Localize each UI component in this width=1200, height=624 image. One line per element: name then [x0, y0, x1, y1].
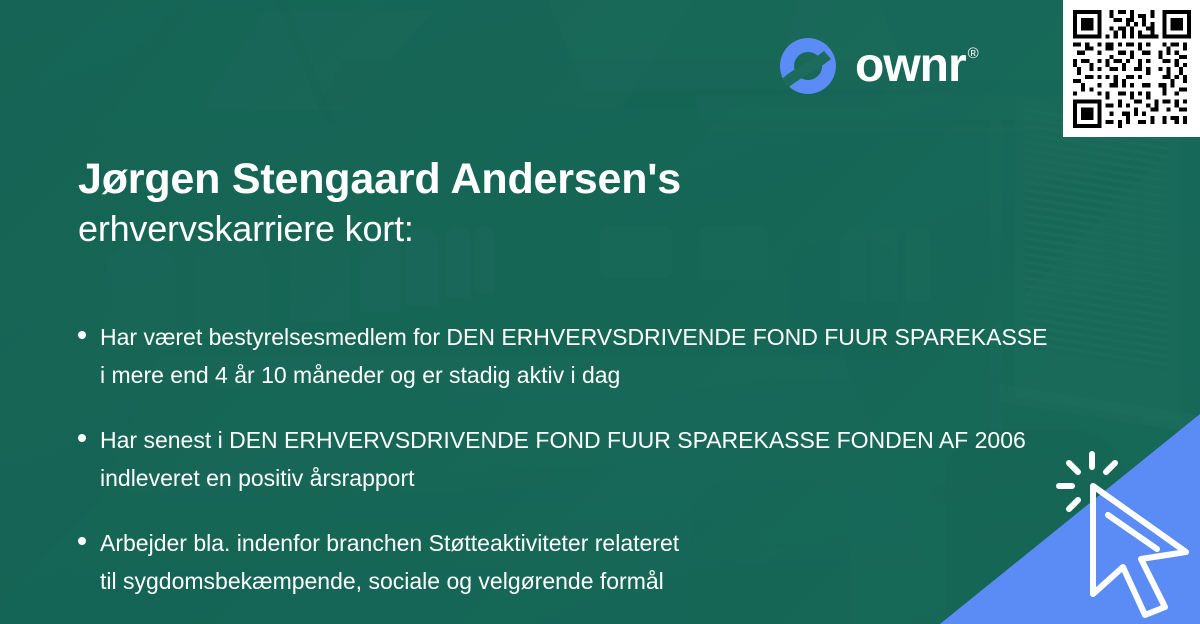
career-card: ownr ® — [0, 0, 1200, 624]
ownr-logo-mark-icon — [779, 37, 837, 95]
career-highlights-list: Har været bestyrelsesmedlem for DEN ERHV… — [78, 318, 1200, 624]
bullet-text-line-2: til sygdomsbekæmpende, sociale og velgør… — [100, 568, 664, 594]
qr-code-panel[interactable] — [1063, 0, 1200, 137]
headline-line-2: erhvervskarriere kort: — [78, 205, 1078, 253]
bullet-text-line-1: Arbejder bla. indenfor branchen Støtteak… — [100, 530, 679, 556]
bullet-text-line-2: indleveret en positiv årsrapport — [100, 465, 415, 491]
registered-trademark-icon: ® — [968, 46, 979, 61]
bullet-dot-icon — [78, 537, 86, 545]
qr-code-icon — [1073, 10, 1191, 128]
bullet-dot-icon — [78, 331, 86, 339]
ownr-logo[interactable]: ownr ® — [779, 37, 979, 95]
page-title: Jørgen Stengaard Andersen's erhvervskarr… — [78, 153, 1078, 253]
bullet-text-line-2: i mere end 4 år 10 måneder og er stadig … — [100, 362, 620, 388]
list-item: Har været bestyrelsesmedlem for DEN ERHV… — [78, 318, 1200, 394]
ownr-wordmark: ownr — [855, 42, 966, 90]
list-item: Arbejder bla. indenfor branchen Støtteak… — [78, 524, 1200, 600]
bullet-dot-icon — [78, 434, 86, 442]
headline-line-1: Jørgen Stengaard Andersen's — [78, 153, 1078, 205]
bullet-text-line-1: Har senest i DEN ERHVERVSDRIVENDE FOND F… — [100, 427, 1026, 453]
bullet-text-line-1: Har været bestyrelsesmedlem for DEN ERHV… — [100, 324, 1047, 350]
list-item: Har senest i DEN ERHVERVSDRIVENDE FOND F… — [78, 421, 1200, 497]
